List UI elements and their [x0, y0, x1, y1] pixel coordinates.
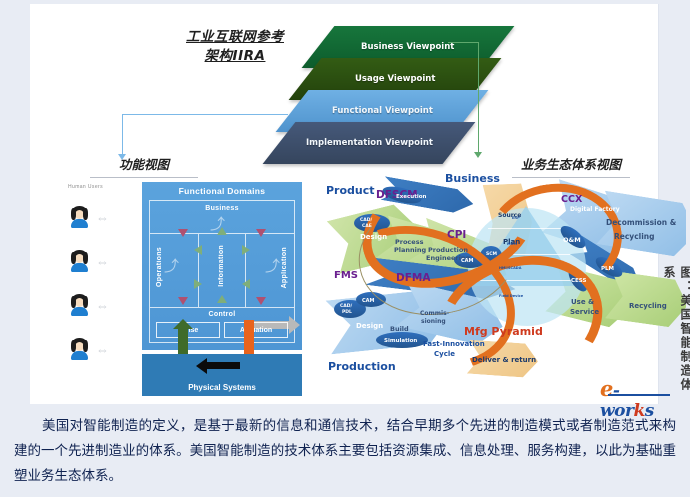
ecosystem-label: PLM [601, 266, 614, 272]
ecosystem-label: PDL [342, 310, 352, 315]
functional-domains-title: Functional Domains [142, 186, 302, 196]
iira-title-line2: 架构IIRA [180, 47, 290, 66]
ecosystem-label: Production [328, 360, 396, 373]
page-root: 工业互联网参考 架构IIRA Business Viewpoint Usage … [0, 0, 690, 497]
human-users-label: Human Users [68, 184, 103, 190]
ecosystem-label: Deliver & return [472, 356, 536, 364]
arrow-left-icon [194, 245, 202, 255]
arrow-right-icon [194, 279, 202, 289]
user-avatar-icon [70, 339, 89, 360]
ecosystem-label: CAM [362, 298, 375, 304]
ecosystem-label: Fast-Innovation [423, 340, 485, 348]
figure-card: 工业互联网参考 架构IIRA Business Viewpoint Usage … [30, 4, 659, 404]
arrow-left-icon [242, 279, 250, 289]
list-item: ⇔ [70, 290, 140, 320]
human-users-column: Human Users ⇔ ⇔ [66, 180, 138, 380]
ecosystem-label: Planning [394, 246, 426, 254]
exchange-icon: ⇔ [96, 299, 109, 312]
layer-label: Usage Viewpoint [355, 74, 435, 84]
caption-functional-view: 功能视图 [90, 154, 198, 178]
arrow-down-icon [178, 297, 188, 305]
list-item: ⇔ [70, 334, 140, 364]
ecosystem-label: DFMA [396, 272, 430, 284]
user-avatar-icon [70, 295, 89, 316]
ecosystem-label: CAM [461, 258, 474, 264]
ecosystem-label: FMS [334, 270, 358, 281]
label-physical-systems: Physical Systems [188, 383, 256, 392]
user-avatar-icon [70, 207, 89, 228]
list-item: ⇔ [70, 246, 140, 276]
ecosystem-label: Field Device [499, 294, 523, 298]
arrow-down-icon [256, 297, 266, 305]
ecosystem-label: Design [356, 322, 383, 330]
ecosystem-label: Digital Factory [570, 206, 620, 213]
arrow-down-icon [178, 229, 188, 237]
label-application: Application [281, 247, 288, 288]
ecosystem-label: ERP [512, 216, 520, 220]
ecosystem-label: O&M [563, 236, 581, 244]
label-information: Information [218, 245, 225, 287]
ecosystem-label: sioning [421, 318, 446, 325]
arrow-right-icon [242, 245, 250, 255]
ecosystem-label: Service [570, 308, 599, 316]
figure-vertical-caption: 图：美国智能制造体系 [661, 266, 690, 404]
eworks-logo-e: e [600, 376, 613, 401]
ecosystem-label: Build [390, 325, 409, 333]
ecosystem-label: HMI/SCADA [499, 266, 521, 270]
ecosystem-label: Commis- [420, 310, 449, 317]
ecosystem-label: Process [395, 238, 423, 246]
ecosystem-label: Simulation [384, 338, 417, 344]
ecosystem-label: SCM [486, 252, 497, 257]
ecosystem-label: CAD/ [340, 304, 352, 309]
ecosystem-label: Recycling [614, 232, 655, 241]
box-actuation: Actuation [224, 322, 288, 338]
ecosystem-label: MOM [507, 242, 517, 246]
ecosystem-label: Design [360, 233, 387, 241]
ecosystem-label: Business [445, 172, 500, 185]
iira-title-line1: 工业互联网参考 [180, 28, 290, 47]
user-avatar-icon [70, 251, 89, 272]
ecosystem-label: Cycle [434, 350, 455, 358]
arrow-up-icon [217, 227, 227, 235]
label-operations: Operations [156, 247, 163, 287]
iira-title: 工业互联网参考 架构IIRA [180, 28, 290, 66]
layer-implementation-viewpoint: Implementation Viewpoint [263, 122, 476, 164]
exchange-icon: ⇔ [96, 343, 109, 356]
layer-label: Functional Viewpoint [332, 106, 433, 116]
ecosystem-label: Decommission & [606, 218, 676, 227]
ecosystem-label: CESS [571, 278, 586, 284]
ecosystem-label: CAE [362, 224, 372, 229]
exchange-icon: ⇔ [96, 211, 109, 224]
ecosystem-label: Product [326, 184, 375, 197]
eworks-logo-dash: - [613, 381, 620, 401]
label-control: Control [209, 311, 236, 318]
ecosystem-label: Mfg Pyramid [464, 325, 543, 338]
ecosystem-label: CCX [561, 194, 582, 205]
physical-feedback-arrow-icon [206, 362, 240, 369]
functional-domains-inner: Business ⤴ Operations Information Applic… [149, 200, 295, 343]
arrow-up-icon [217, 295, 227, 303]
ecosystem-label: Use & [571, 298, 594, 306]
ecosystem-label: CPI [447, 229, 466, 241]
ecosystem-label: Production [428, 246, 468, 254]
arrow-down-icon [256, 229, 266, 237]
exchange-icon: ⇔ [96, 255, 109, 268]
viewpoint-stack: Business Viewpoint Usage Viewpoint Funct… [278, 26, 468, 166]
layer-label: Implementation Viewpoint [306, 138, 433, 148]
functional-domains-diagram: Human Users ⇔ ⇔ [66, 180, 302, 402]
business-ecosystem-diagram: ProductDFSCMBusinessCPISourcePlanCAD/CAE… [318, 170, 686, 404]
ecosystem-label: Execution [396, 194, 426, 200]
ecosystem-label: CAD/ [360, 218, 372, 223]
physical-systems-panel: Physical Systems [142, 354, 302, 396]
functional-domains-panel: Functional Domains Business ⤴ Operations… [142, 182, 302, 350]
layer-label: Business Viewpoint [361, 42, 454, 52]
list-item: ⇔ [70, 202, 140, 232]
label-business: Business [205, 205, 239, 212]
body-paragraph: 美国对智能制造的定义，是基于最新的信息和通信技术，结合早期多个先进的制造模式或者… [14, 414, 676, 489]
